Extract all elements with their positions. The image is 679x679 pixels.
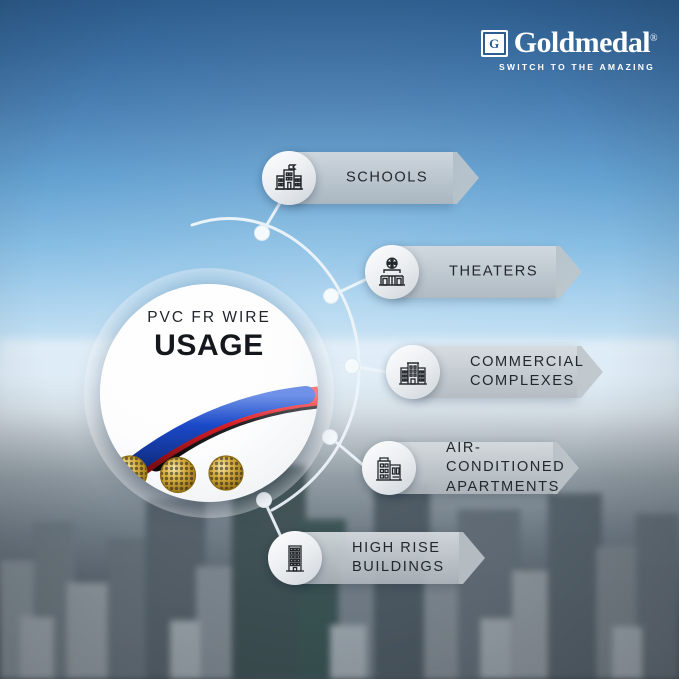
usage-label: SCHOOLS — [346, 168, 428, 187]
apartment-building-icon — [362, 441, 416, 495]
usage-label: HIGH RISE BUILDINGS — [352, 539, 445, 578]
usage-item-air-conditioned-apartments[interactable]: AIR-CONDITIONED APARTMENTS — [362, 442, 579, 494]
office-complex-icon — [386, 345, 440, 399]
connector-node — [324, 289, 339, 304]
connector-node — [255, 226, 270, 241]
high-rise-tower-icon — [268, 531, 322, 585]
hub-headline: USAGE — [100, 331, 318, 361]
wire-product-image — [100, 376, 318, 502]
pill-arrow-shape — [459, 532, 485, 584]
hub-title: PVC FR WIRE — [100, 310, 318, 326]
usage-item-commercial-complexes[interactable]: COMMERCIAL COMPLEXES — [386, 346, 603, 398]
usage-item-theaters[interactable]: THEATERS — [365, 246, 582, 298]
center-hub: PVC FR WIRE USAGE — [100, 284, 318, 502]
pill-arrow-shape — [453, 152, 479, 204]
usage-label: AIR-CONDITIONED APARTMENTS — [446, 439, 579, 497]
usage-label: THEATERS — [449, 262, 538, 281]
theater-building-icon — [365, 245, 419, 299]
usage-label: COMMERCIAL COMPLEXES — [470, 353, 584, 392]
pill-arrow-shape — [556, 246, 582, 298]
usage-item-schools[interactable]: SCHOOLS — [262, 152, 479, 204]
usage-item-high-rise-buildings[interactable]: HIGH RISE BUILDINGS — [268, 532, 485, 584]
connector-node — [345, 359, 360, 374]
infographic-canvas: G Goldmedal® SWITCH TO THE AMAZING PVC F — [0, 0, 679, 679]
school-building-icon — [262, 151, 316, 205]
